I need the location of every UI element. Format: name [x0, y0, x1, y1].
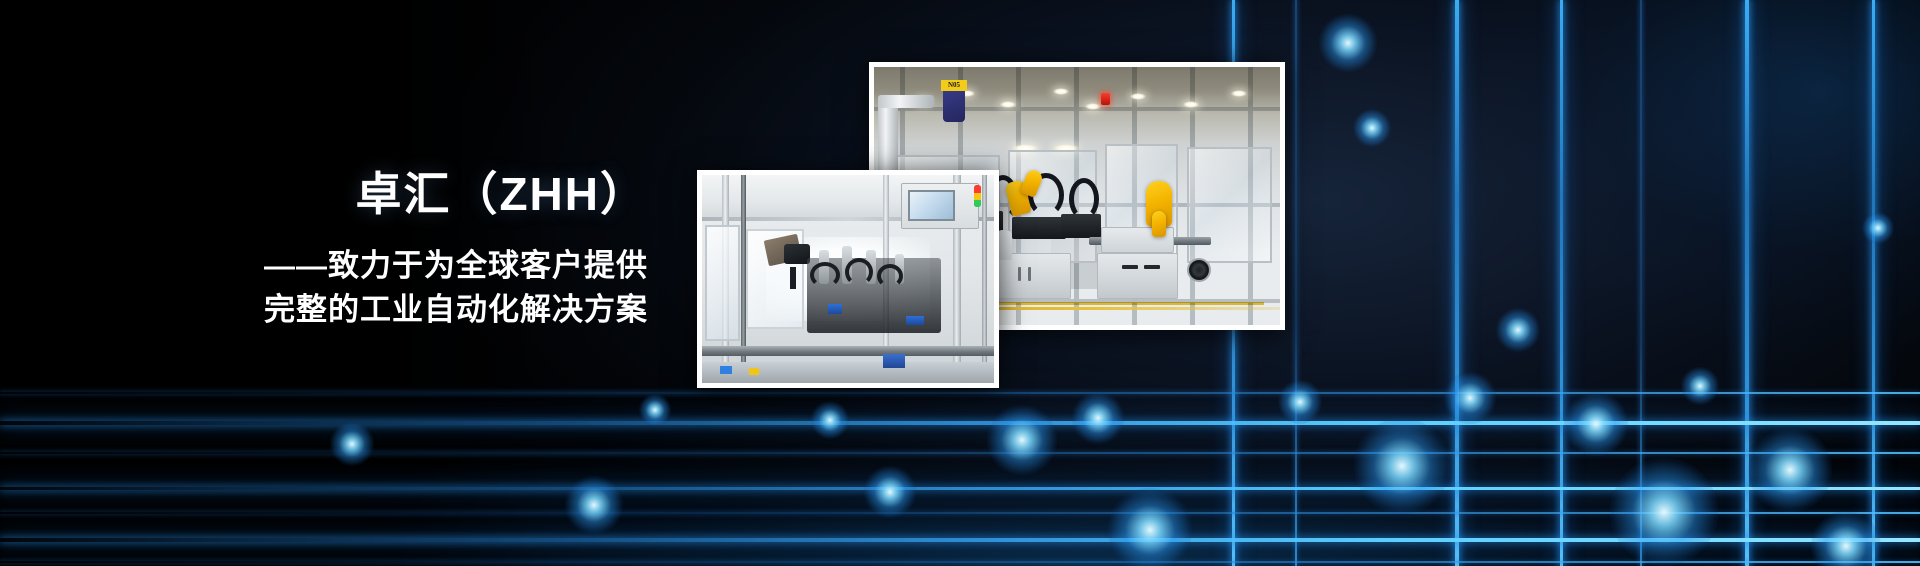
decor-bloom-point-18	[1811, 511, 1881, 566]
hmi-screen	[908, 190, 956, 222]
hero-subtitle: ——致力于为全球客户提供 完整的工业自动化解决方案	[0, 244, 648, 332]
decor-vertical-line-6	[1872, 0, 1875, 566]
decor-bloom-point-9	[1319, 14, 1377, 72]
decor-bloom-point-5	[987, 405, 1057, 475]
decor-bloom-point-14	[1564, 392, 1628, 456]
decor-bloom-point-2	[565, 476, 623, 534]
decor-bloom-point-4	[864, 466, 915, 517]
page-title: 卓汇（ZHH）	[0, 170, 648, 218]
conveyor-belt	[702, 346, 994, 356]
valve-block	[906, 316, 924, 325]
decor-bloom-point-17	[1748, 428, 1831, 511]
stack-light-icon	[974, 185, 981, 207]
decor-bloom-point-19	[1862, 212, 1894, 244]
mechanism-assembly	[1012, 217, 1066, 239]
hero-copy: 卓汇（ZHH） ——致力于为全球客户提供 完整的工业自动化解决方案	[0, 170, 660, 332]
photo-automation-workstation-closeup[interactable]	[697, 170, 999, 388]
hero-banner: 卓汇（ZHH） ——致力于为全球客户提供 完整的工业自动化解决方案	[0, 0, 1920, 566]
hmi-enclosure	[901, 183, 980, 229]
conveyor-frame	[702, 362, 994, 383]
decor-horizontal-line-2	[0, 452, 1920, 454]
decor-vertical-line-5	[1745, 0, 1749, 566]
photo-scene-workstation	[702, 175, 994, 383]
safety-glass-panel	[1187, 147, 1272, 263]
warning-beacon-icon	[1101, 93, 1110, 105]
ceiling-light-icon	[1000, 101, 1016, 108]
conveyor-part	[883, 354, 905, 368]
ceiling-light-icon	[1053, 88, 1069, 95]
subtitle-line-1: ——致力于为全球客户提供	[0, 244, 648, 288]
decor-bloom-point-15	[1610, 458, 1719, 566]
decor-bloom-point-13	[1496, 308, 1541, 353]
decor-horizontal-line-6	[0, 561, 1920, 563]
robot-arm-base	[1152, 211, 1166, 237]
mechanism-assembly	[1061, 214, 1101, 238]
decor-bloom-point-1	[639, 394, 671, 426]
decor-bloom-point-6	[1072, 392, 1123, 443]
subtitle-line-2: 完整的工业自动化解决方案	[0, 288, 648, 332]
fan-icon	[1187, 258, 1211, 282]
decor-bloom-point-11	[1354, 418, 1450, 514]
vision-camera-icon	[784, 244, 810, 264]
conveyor-part	[749, 368, 759, 375]
decor-bloom-point-3	[811, 401, 849, 439]
machine-tag-label: N05	[941, 80, 967, 91]
decor-vertical-line-3	[1560, 0, 1563, 566]
decor-horizontal-line-1	[0, 421, 1920, 425]
decor-bloom-point-7	[1108, 488, 1191, 566]
ceiling-light-icon	[1183, 101, 1199, 108]
valve-block	[828, 304, 842, 314]
decor-bloom-point-8	[1278, 380, 1323, 425]
decor-bloom-point-12	[1444, 372, 1495, 423]
machine-cabinet	[1097, 253, 1178, 299]
decor-bloom-point-10	[1353, 109, 1391, 147]
conveyor-part	[720, 366, 732, 374]
decor-vertical-line-1	[1295, 0, 1297, 566]
decor-bloom-point-16	[1681, 367, 1719, 405]
camera-mount-arm	[790, 267, 796, 289]
decor-vertical-line-2	[1455, 0, 1459, 566]
extraction-pipe-elbow	[878, 95, 934, 108]
decor-horizontal-line-0	[0, 392, 1920, 394]
ceiling-light-icon	[1130, 93, 1146, 100]
safety-door-panel	[705, 225, 740, 341]
decor-bloom-point-0	[330, 422, 375, 467]
